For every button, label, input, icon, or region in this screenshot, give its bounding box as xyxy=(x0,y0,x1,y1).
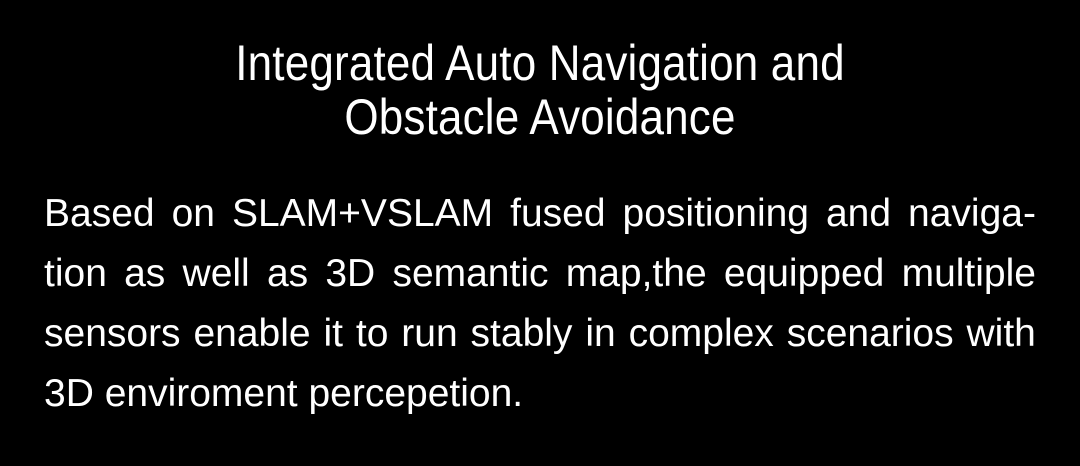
slide-title-line-1: Integrated Auto Navigation and xyxy=(65,36,1015,90)
body-word: to xyxy=(356,304,389,364)
body-word: naviga- xyxy=(908,184,1036,244)
body-word: as xyxy=(124,244,165,304)
slide-canvas: Integrated Auto Navigation and Obstacle … xyxy=(0,0,1080,466)
body-word: run xyxy=(401,304,457,364)
body-word: equipped xyxy=(724,244,885,304)
body-word: with xyxy=(967,304,1036,364)
body-word: SLAM+VSLAM xyxy=(232,184,493,244)
body-word: stably xyxy=(471,304,573,364)
body-word: scenarios xyxy=(787,304,954,364)
body-word: sensors xyxy=(44,304,181,364)
body-word: Based xyxy=(44,184,155,244)
body-word: it xyxy=(323,304,343,364)
body-word: 3D xyxy=(325,244,375,304)
body-word: in xyxy=(585,304,615,364)
body-word: well xyxy=(183,244,250,304)
body-word: multiple xyxy=(902,244,1036,304)
body-word: map,the xyxy=(566,244,707,304)
body-word: and xyxy=(826,184,891,244)
body-word: complex xyxy=(629,304,774,364)
slide-title: Integrated Auto Navigation and Obstacle … xyxy=(0,36,1080,144)
body-line-2: tionaswellas3Dsemanticmap,theequippedmul… xyxy=(44,244,1036,304)
body-line-3: sensorsenableittorunstablyincomplexscena… xyxy=(44,304,1036,364)
slide-title-line-2: Obstacle Avoidance xyxy=(65,90,1015,144)
body-word: tion xyxy=(44,244,107,304)
body-word: positioning xyxy=(623,184,809,244)
body-word: as xyxy=(267,244,308,304)
body-line-4: 3D enviroment percepetion. xyxy=(44,364,1036,424)
body-word: enable xyxy=(193,304,310,364)
slide-body-text: BasedonSLAM+VSLAMfusedpositioningandnavi… xyxy=(44,184,1036,424)
body-word: fused xyxy=(510,184,605,244)
body-word: on xyxy=(172,184,215,244)
body-word: semantic xyxy=(392,244,548,304)
body-line-1: BasedonSLAM+VSLAMfusedpositioningandnavi… xyxy=(44,184,1036,244)
